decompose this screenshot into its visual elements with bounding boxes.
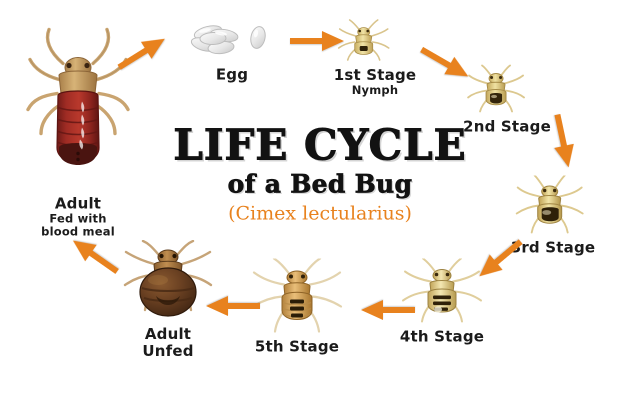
stage-3-nymph-icon [511, 176, 596, 240]
stage-5-nymph-icon [247, 259, 347, 339]
stage-1-label: 1st Stage [334, 67, 417, 84]
stage-egg: Egg [186, 21, 278, 84]
arrow-stage3-to-stage4 [469, 230, 530, 287]
stage-5: 5th Stage [247, 259, 347, 356]
stage-1: 1st Stage Nymph [334, 19, 417, 97]
scientific-name: (Cimex lectularius) [155, 202, 485, 226]
arrow-stage1-to-stage2 [413, 37, 476, 89]
adult-fed-label: Adult [23, 196, 133, 213]
stage-4-label: 4th Stage [397, 329, 487, 346]
arrow-stage5-to-adultunfed [204, 293, 262, 319]
egg-label: Egg [186, 67, 278, 84]
stage-2-label: 2nd Stage [463, 119, 551, 136]
arrow-egg-to-stage1 [288, 28, 346, 54]
egg-cluster-icon [186, 21, 278, 67]
arrow-stage2-to-stage3 [544, 110, 581, 172]
stage-2-nymph-icon [463, 65, 551, 119]
adult-unfed-label: Adult [116, 326, 220, 343]
page-subtitle: of a Bed Bug [155, 170, 485, 200]
life-cycle-infographic: LIFE CYCLE of a Bed Bug (Cimex lectulari… [0, 0, 640, 405]
adult-fed-icon [23, 22, 133, 196]
stage-1-nymph-icon [334, 19, 417, 67]
title-block: LIFE CYCLE of a Bed Bug (Cimex lectulari… [155, 125, 485, 226]
stage-5-label: 5th Stage [247, 339, 347, 356]
page-title: LIFE CYCLE [155, 125, 485, 167]
arrow-stage4-to-stage5 [359, 297, 417, 323]
stage-2: 2nd Stage [463, 65, 551, 136]
adult-unfed-sublabel: Unfed [116, 343, 220, 360]
stage-1-sublabel: Nymph [334, 84, 417, 97]
